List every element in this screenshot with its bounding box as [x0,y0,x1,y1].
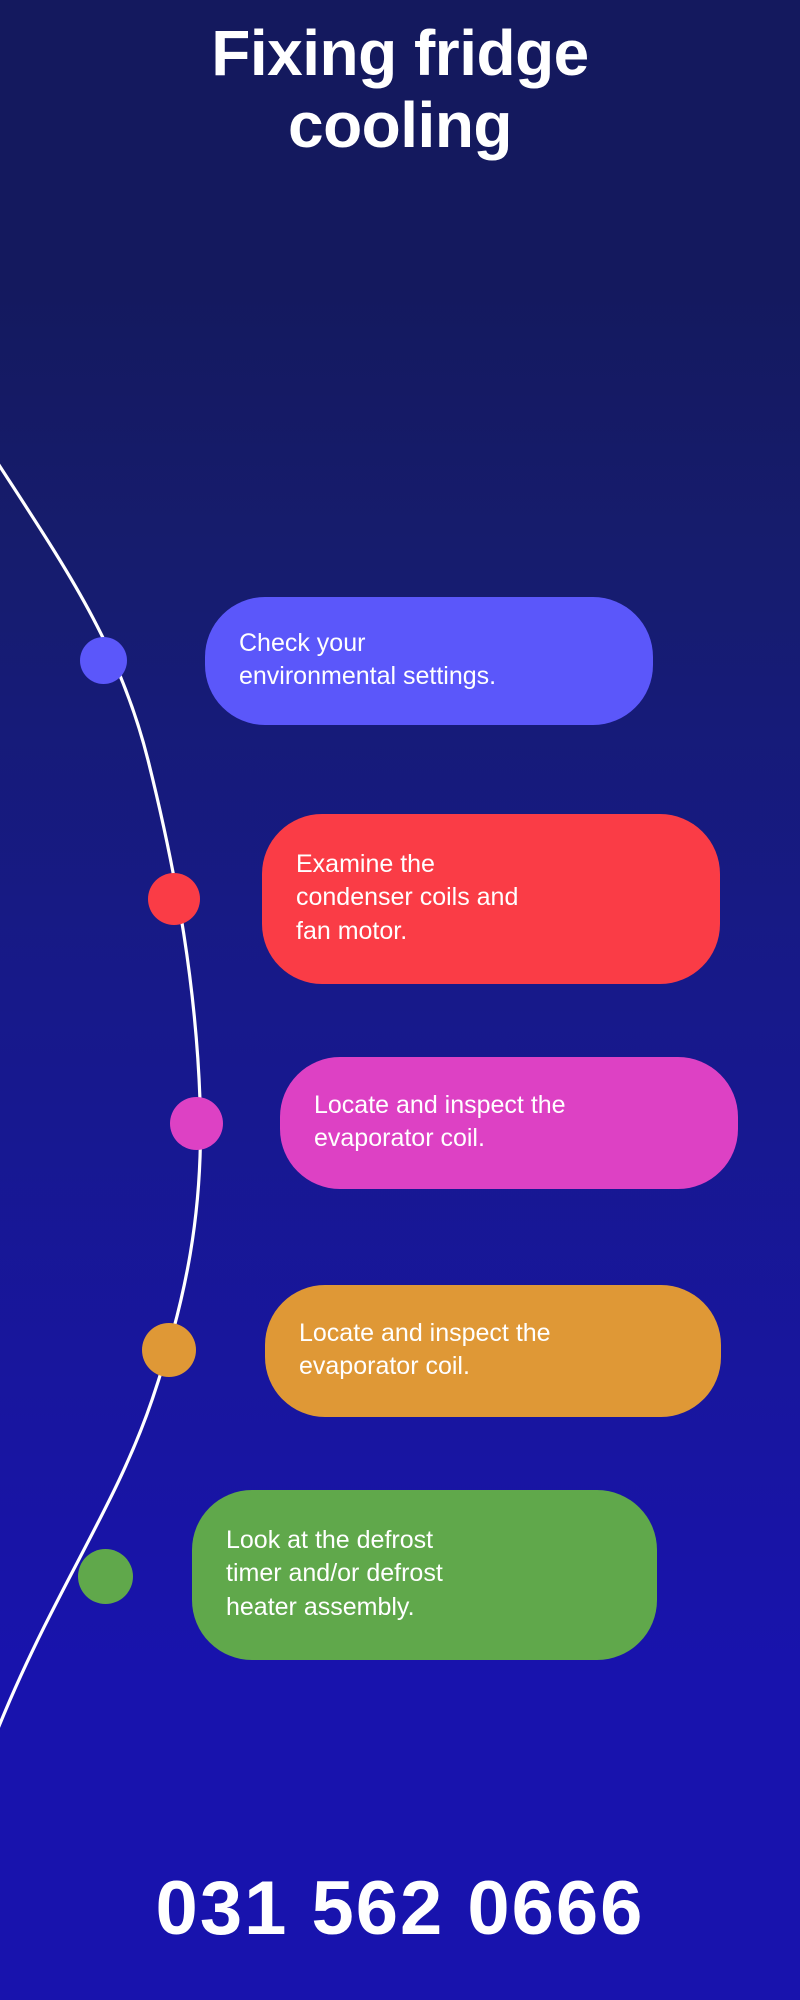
timeline-step-4-label: Locate and inspect the evaporator coil. [299,1317,551,1384]
timeline-pill-2[interactable]: Examine the condenser coils and fan moto… [262,814,720,984]
timeline-pill-4[interactable]: Locate and inspect the evaporator coil. [265,1285,721,1417]
timeline-step-list: Check your environmental settings. Exami… [0,0,800,2000]
phone-number[interactable]: 031 562 0666 [0,1865,800,1952]
infographic-poster: Fixing fridge cooling Check your environ… [0,0,800,2000]
timeline-dot-2 [148,873,200,925]
poster-footer: 031 562 0666 [0,1865,800,1952]
timeline-step-5-label: Look at the defrost timer and/or defrost… [226,1524,443,1624]
timeline-step-3-label: Locate and inspect the evaporator coil. [314,1089,566,1156]
timeline-pill-5[interactable]: Look at the defrost timer and/or defrost… [192,1490,657,1660]
timeline-pill-3[interactable]: Locate and inspect the evaporator coil. [280,1057,738,1189]
timeline-dot-4 [142,1323,196,1377]
timeline-dot-5 [78,1549,133,1604]
timeline-step-1-label: Check your environmental settings. [239,627,496,694]
timeline-step-2-label: Examine the condenser coils and fan moto… [296,848,518,948]
timeline-dot-3 [170,1097,223,1150]
timeline-pill-1[interactable]: Check your environmental settings. [205,597,653,725]
timeline-dot-1 [80,637,127,684]
